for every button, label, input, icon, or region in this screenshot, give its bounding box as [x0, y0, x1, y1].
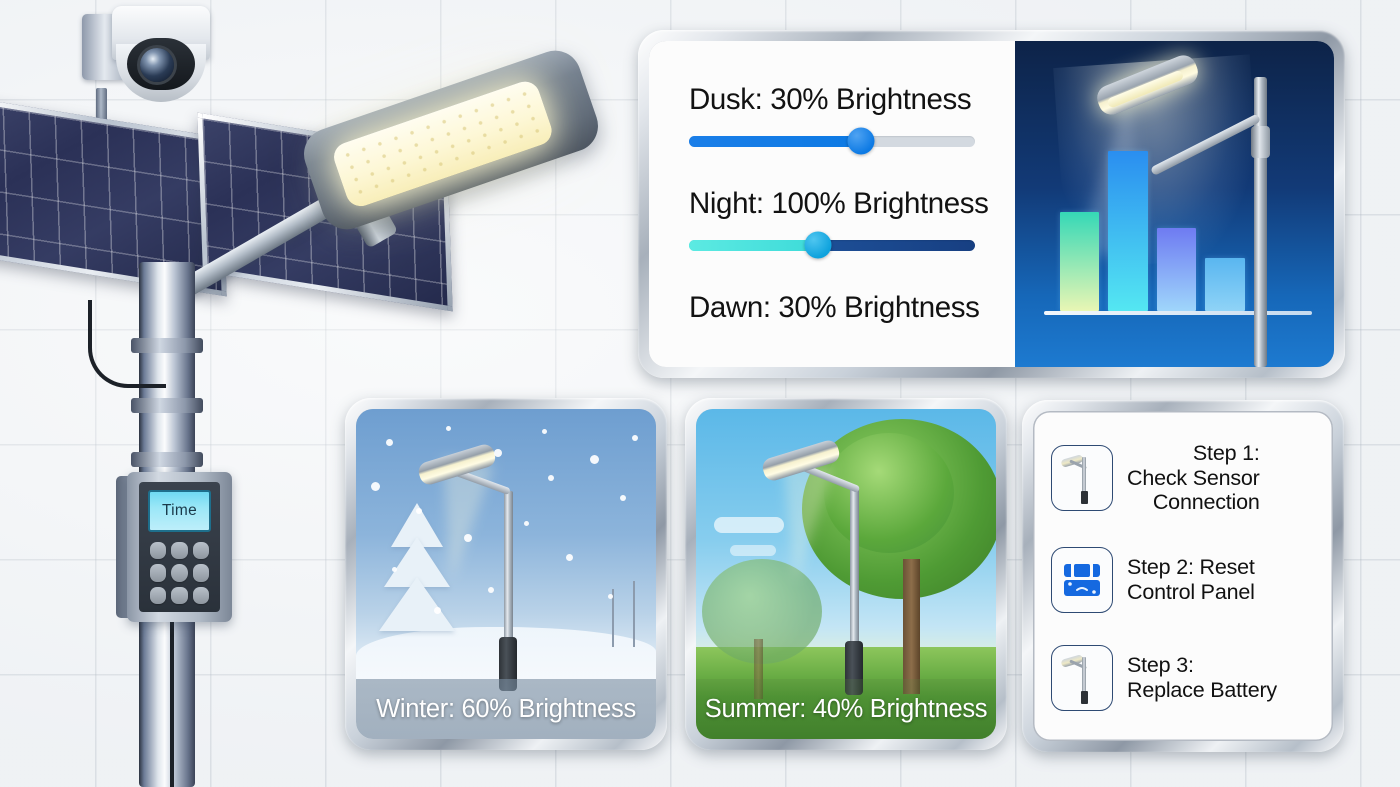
step-3-text: Step 3: Replace Battery	[1127, 653, 1277, 702]
schedule-row-dusk: Dusk: 30% Brightness	[689, 85, 975, 183]
key-9[interactable]	[193, 587, 209, 604]
key-6[interactable]	[193, 564, 209, 581]
energy-bar-chart	[1060, 151, 1245, 311]
step-item-1[interactable]: Step 1: Check Sensor Connection	[1051, 441, 1319, 515]
slider-fill	[689, 136, 861, 147]
snowflake	[371, 482, 380, 491]
led-lamp-head	[297, 44, 605, 237]
step-1-text: Step 1: Check Sensor Connection	[1127, 441, 1260, 515]
key-8[interactable]	[171, 587, 187, 604]
dusk-brightness-slider[interactable]	[689, 136, 975, 147]
chart-bar	[1108, 151, 1147, 311]
troubleshooting-steps-panel: Step 1: Check Sensor Connection Step 2: …	[1022, 400, 1344, 752]
step-item-3[interactable]: Step 3: Replace Battery	[1051, 645, 1319, 711]
summer-scene: Summer: 40% Brightness	[696, 409, 996, 739]
power-cable	[170, 610, 174, 787]
streetlight-icon	[1051, 645, 1113, 711]
step-1-line2: Check Sensor	[1127, 466, 1260, 491]
tree-trunk	[903, 559, 920, 694]
camera-icon	[140, 48, 174, 82]
controller-keypad[interactable]	[150, 542, 209, 604]
chart-bar	[1157, 228, 1196, 311]
night-streetlight-scene	[1015, 41, 1334, 367]
key-3[interactable]	[193, 542, 209, 559]
schedule-list: Dusk: 30% Brightness Night: 100% Brightn…	[649, 41, 1015, 367]
step-2-text: Step 2: Reset Control Panel	[1127, 555, 1255, 604]
steps-list: Step 1: Check Sensor Connection Step 2: …	[1033, 411, 1333, 741]
snowflake	[434, 607, 441, 614]
step-3-title: Step 3:	[1127, 653, 1277, 678]
pole-band	[131, 398, 203, 413]
pole-control-box[interactable]: Time	[127, 472, 232, 622]
summer-caption: Summer: 40% Brightness	[696, 679, 996, 739]
snowflake	[446, 426, 451, 431]
winter-brightness-card[interactable]: Winter: 60% Brightness	[345, 398, 667, 750]
step-item-2[interactable]: Step 2: Reset Control Panel	[1051, 547, 1319, 613]
controller-screen-text: Time	[162, 502, 197, 520]
winter-caption: Winter: 60% Brightness	[356, 679, 656, 739]
cloud	[714, 517, 784, 533]
schedule-panel-inner: Dusk: 30% Brightness Night: 100% Brightn…	[649, 41, 1334, 367]
winter-caption-text: Winter: 60% Brightness	[376, 695, 636, 724]
chart-bar	[1205, 258, 1244, 311]
brightness-schedule-panel: Dusk: 30% Brightness Night: 100% Brightn…	[638, 30, 1345, 378]
control-panel-icon	[1051, 547, 1113, 613]
slider-fill	[689, 240, 818, 251]
step-3-line2: Replace Battery	[1127, 678, 1277, 703]
snowflake	[416, 508, 422, 514]
schedule-row-night: Night: 100% Brightness	[689, 189, 975, 287]
winter-card-inner: Winter: 60% Brightness	[356, 409, 656, 739]
led-dots	[338, 85, 548, 202]
snowflake	[620, 495, 626, 501]
cloud	[730, 545, 776, 556]
control-panel-glyph	[1062, 563, 1102, 597]
snowflake	[494, 449, 502, 457]
led-array-icon	[330, 78, 556, 211]
key-1[interactable]	[150, 542, 166, 559]
control-box-face: Time	[139, 482, 220, 612]
streetlight-icon	[1051, 445, 1113, 511]
dawn-label: Dawn: 30% Brightness	[689, 293, 975, 324]
key-2[interactable]	[171, 542, 187, 559]
dusk-label: Dusk: 30% Brightness	[689, 85, 975, 116]
step-2-line2: Control Panel	[1127, 580, 1255, 605]
snowflake	[608, 594, 613, 599]
key-4[interactable]	[150, 564, 166, 581]
summer-brightness-card[interactable]: Summer: 40% Brightness	[685, 398, 1007, 750]
snowflake	[542, 429, 547, 434]
tree-icon	[824, 433, 954, 553]
snowflake	[548, 475, 554, 481]
night-label: Night: 100% Brightness	[689, 189, 975, 220]
bare-tree	[633, 581, 636, 647]
winter-scene: Winter: 60% Brightness	[356, 409, 656, 739]
step-1-title: Step 1:	[1127, 441, 1260, 466]
key-5[interactable]	[171, 564, 187, 581]
slider-thumb[interactable]	[847, 128, 874, 155]
slider-thumb[interactable]	[804, 232, 831, 259]
chart-baseline	[1044, 311, 1312, 315]
power-cable	[88, 300, 166, 388]
streetlight-joint	[1251, 126, 1270, 158]
controller-screen: Time	[148, 490, 211, 532]
snowflake	[386, 439, 393, 446]
schedule-row-dawn: Dawn: 30% Brightness	[689, 293, 975, 324]
night-brightness-slider[interactable]	[689, 240, 975, 251]
summer-card-inner: Summer: 40% Brightness	[696, 409, 996, 739]
summer-caption-text: Summer: 40% Brightness	[705, 695, 988, 724]
chart-bar	[1060, 212, 1099, 311]
step-1-line3: Connection	[1127, 490, 1260, 515]
pole-band	[131, 452, 203, 467]
step-2-title: Step 2: Reset	[1127, 555, 1255, 580]
key-7[interactable]	[150, 587, 166, 604]
